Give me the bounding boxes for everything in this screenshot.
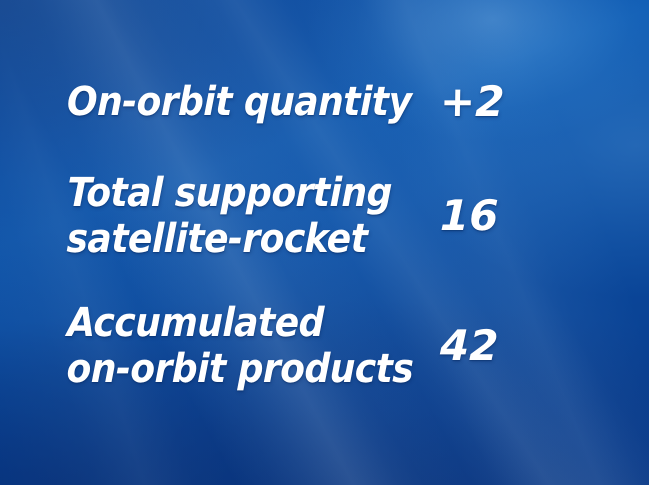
statistics-slide: On-orbit quantity +2 Total supporting sa… xyxy=(0,0,649,485)
stat-value-accumulated-on-orbit-products: 42 xyxy=(440,323,561,369)
stat-value-on-orbit-quantity: +2 xyxy=(440,79,561,125)
stat-row-on-orbit-quantity: On-orbit quantity +2 xyxy=(0,76,649,128)
stat-value-total-supporting-satellite-rocket: 16 xyxy=(440,193,561,239)
statistics-list: On-orbit quantity +2 Total supporting sa… xyxy=(0,0,649,485)
stat-label-accumulated-on-orbit-products: Accumulated on-orbit products xyxy=(0,300,441,392)
stat-row-total-supporting-satellite-rocket: Total supporting satellite-rocket 16 xyxy=(0,168,649,264)
stat-label-on-orbit-quantity: On-orbit quantity xyxy=(0,79,440,125)
stat-label-total-supporting-satellite-rocket: Total supporting satellite-rocket xyxy=(0,170,441,262)
stat-row-accumulated-on-orbit-products: Accumulated on-orbit products 42 xyxy=(0,298,649,394)
